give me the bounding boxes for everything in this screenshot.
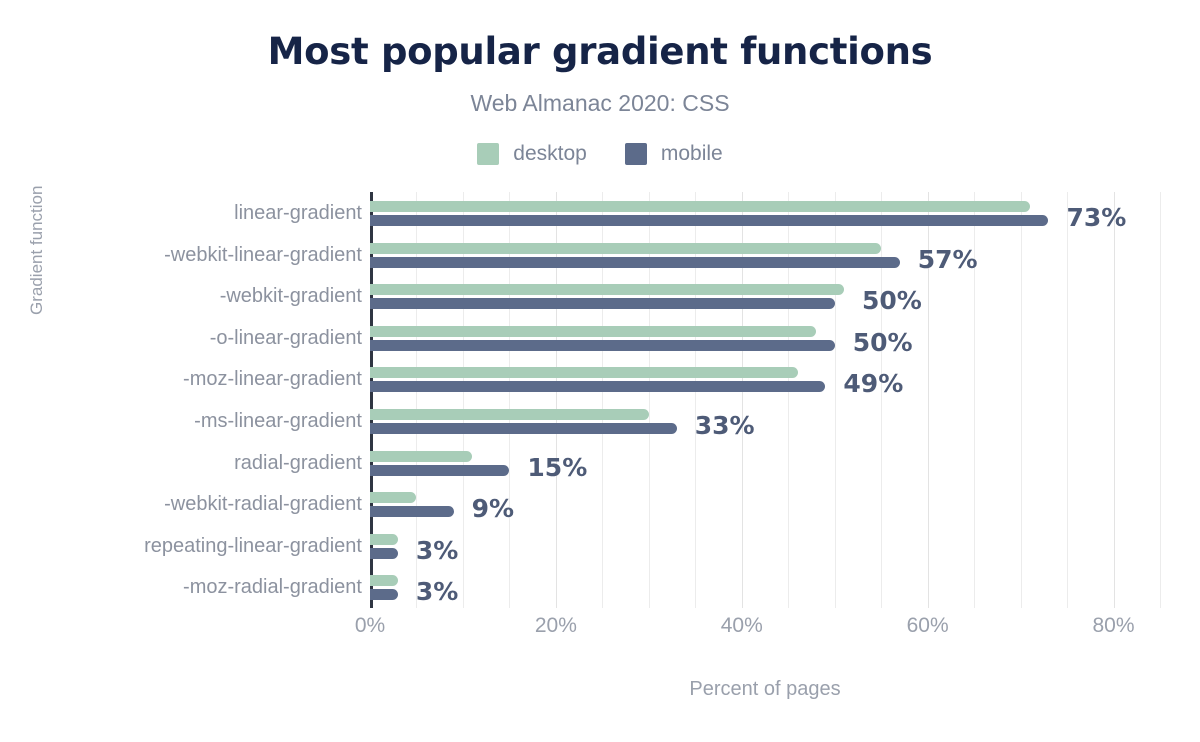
plot-area: 73%57%50%50%49%33%15%9%3%3% bbox=[370, 192, 1160, 608]
legend-item-mobile[interactable]: mobile bbox=[625, 142, 723, 166]
y-axis-category-label: -o-linear-gradient bbox=[0, 327, 362, 350]
y-axis-category-label: -webkit-radial-gradient bbox=[0, 493, 362, 516]
bar-value-label: 73% bbox=[1066, 203, 1126, 232]
y-axis-title: Gradient function bbox=[27, 285, 47, 315]
y-axis-category-label: -webkit-gradient bbox=[0, 285, 362, 308]
chart-legend: desktop mobile bbox=[0, 142, 1200, 166]
bar-value-label: 33% bbox=[695, 411, 755, 440]
bar-row: 33% bbox=[370, 400, 1160, 442]
x-axis-tick-label: 20% bbox=[535, 614, 577, 638]
bar-value-label: 49% bbox=[843, 369, 903, 398]
legend-label-mobile: mobile bbox=[661, 142, 723, 166]
y-axis-category-label: -webkit-linear-gradient bbox=[0, 244, 362, 267]
y-axis-category-label: radial-gradient bbox=[0, 452, 362, 475]
bar-mobile[interactable] bbox=[370, 257, 900, 268]
x-axis-tick-label: 80% bbox=[1093, 614, 1135, 638]
bar-desktop[interactable] bbox=[370, 534, 398, 545]
bar-mobile[interactable] bbox=[370, 215, 1048, 226]
bar-mobile[interactable] bbox=[370, 423, 677, 434]
bar-mobile[interactable] bbox=[370, 548, 398, 559]
chart-title: Most popular gradient functions bbox=[0, 30, 1200, 73]
bar-row: 3% bbox=[370, 566, 1160, 608]
bar-desktop[interactable] bbox=[370, 367, 798, 378]
y-axis-category-label: linear-gradient bbox=[0, 202, 362, 225]
y-axis-category-labels: linear-gradient-webkit-linear-gradient-w… bbox=[0, 192, 362, 608]
y-axis-category-label: -moz-radial-gradient bbox=[0, 576, 362, 599]
gridline bbox=[1160, 192, 1161, 608]
bar-row: 3% bbox=[370, 525, 1160, 567]
bar-value-label: 3% bbox=[416, 577, 458, 606]
y-axis-category-label: -moz-linear-gradient bbox=[0, 368, 362, 391]
bar-desktop[interactable] bbox=[370, 451, 472, 462]
x-axis-tick-label: 60% bbox=[907, 614, 949, 638]
bar-desktop[interactable] bbox=[370, 284, 844, 295]
bar-mobile[interactable] bbox=[370, 465, 509, 476]
bar-desktop[interactable] bbox=[370, 243, 881, 254]
bar-desktop[interactable] bbox=[370, 409, 649, 420]
x-axis-tick-labels: 0%20%40%60%80% bbox=[370, 614, 1160, 648]
bar-value-label: 57% bbox=[918, 245, 978, 274]
bar-mobile[interactable] bbox=[370, 589, 398, 600]
legend-label-desktop: desktop bbox=[513, 142, 587, 166]
bar-value-label: 3% bbox=[416, 536, 458, 565]
chart-container: Most popular gradient functions Web Alma… bbox=[0, 0, 1200, 742]
legend-swatch-desktop-icon bbox=[477, 143, 499, 165]
bar-row: 49% bbox=[370, 358, 1160, 400]
bar-row: 73% bbox=[370, 192, 1160, 234]
bar-desktop[interactable] bbox=[370, 492, 416, 503]
bar-value-label: 50% bbox=[862, 286, 922, 315]
bar-row: 15% bbox=[370, 442, 1160, 484]
x-axis-tick-label: 40% bbox=[721, 614, 763, 638]
bar-mobile[interactable] bbox=[370, 381, 825, 392]
bar-row: 50% bbox=[370, 275, 1160, 317]
x-axis-title: Percent of pages bbox=[370, 678, 1160, 701]
bar-rows: 73%57%50%50%49%33%15%9%3%3% bbox=[370, 192, 1160, 608]
y-axis-category-label: repeating-linear-gradient bbox=[0, 535, 362, 558]
bar-value-label: 15% bbox=[527, 453, 587, 482]
y-axis-category-label: -ms-linear-gradient bbox=[0, 410, 362, 433]
x-axis-tick-label: 0% bbox=[355, 614, 385, 638]
bar-row: 9% bbox=[370, 483, 1160, 525]
legend-item-desktop[interactable]: desktop bbox=[477, 142, 587, 166]
bar-desktop[interactable] bbox=[370, 575, 398, 586]
bar-desktop[interactable] bbox=[370, 201, 1030, 212]
bar-mobile[interactable] bbox=[370, 506, 454, 517]
bar-desktop[interactable] bbox=[370, 326, 816, 337]
legend-swatch-mobile-icon bbox=[625, 143, 647, 165]
chart-subtitle: Web Almanac 2020: CSS bbox=[0, 90, 1200, 117]
bar-row: 57% bbox=[370, 234, 1160, 276]
bar-mobile[interactable] bbox=[370, 298, 835, 309]
bar-row: 50% bbox=[370, 317, 1160, 359]
bar-value-label: 50% bbox=[853, 328, 913, 357]
bar-value-label: 9% bbox=[472, 494, 514, 523]
bar-mobile[interactable] bbox=[370, 340, 835, 351]
